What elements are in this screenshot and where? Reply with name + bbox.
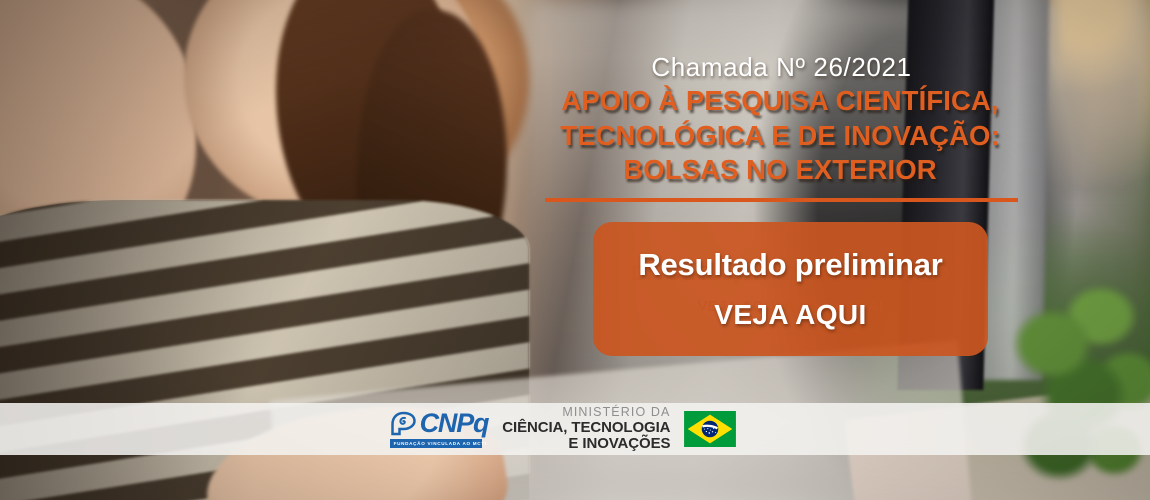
call-number: Chamada Nº 26/2021 — [545, 52, 1018, 83]
cta-title: Resultado preliminar — [638, 247, 942, 283]
headline-line-3: BOLSAS NO EXTERIOR — [520, 153, 1040, 188]
ministry-line-2: CIÊNCIA, TECNOLOGIA — [502, 420, 670, 436]
headline-line-1: APOIO À PESQUISA CIENTÍFICA, — [520, 84, 1040, 119]
campaign-banner: DIVULGAÇÃO DO RESULTADO VEJA AQUI A CHAM… — [0, 0, 1150, 500]
cnpq-head-icon — [390, 411, 417, 437]
headline: APOIO À PESQUISA CIENTÍFICA, TECNOLÓGICA… — [520, 84, 1040, 188]
cnpq-logo-top: CNPq — [390, 410, 489, 437]
footer-logos: CNPq FUNDAÇÃO VINCULADA AO MCTI MINISTÉR… — [390, 406, 737, 451]
cnpq-tagline: FUNDAÇÃO VINCULADA AO MCTI — [390, 439, 482, 448]
brazil-flag-icon — [684, 411, 736, 447]
ministry-line-3: E INOVAÇÕES — [568, 436, 670, 452]
headline-line-2: TECNOLÓGICA E DE INOVAÇÃO: — [520, 119, 1040, 154]
cnpq-wordmark: CNPq — [420, 410, 489, 437]
footer-logo-bar: CNPq FUNDAÇÃO VINCULADA AO MCTI MINISTÉR… — [0, 403, 1150, 455]
cta-action: VEJA AQUI — [714, 299, 866, 331]
orange-divider — [545, 198, 1018, 202]
result-cta-button[interactable]: Resultado preliminar VEJA AQUI — [593, 222, 988, 356]
cnpq-logo[interactable]: CNPq FUNDAÇÃO VINCULADA AO MCTI — [390, 410, 489, 448]
ministry-lockup: MINISTÉRIO DA CIÊNCIA, TECNOLOGIA E INOV… — [502, 406, 670, 451]
